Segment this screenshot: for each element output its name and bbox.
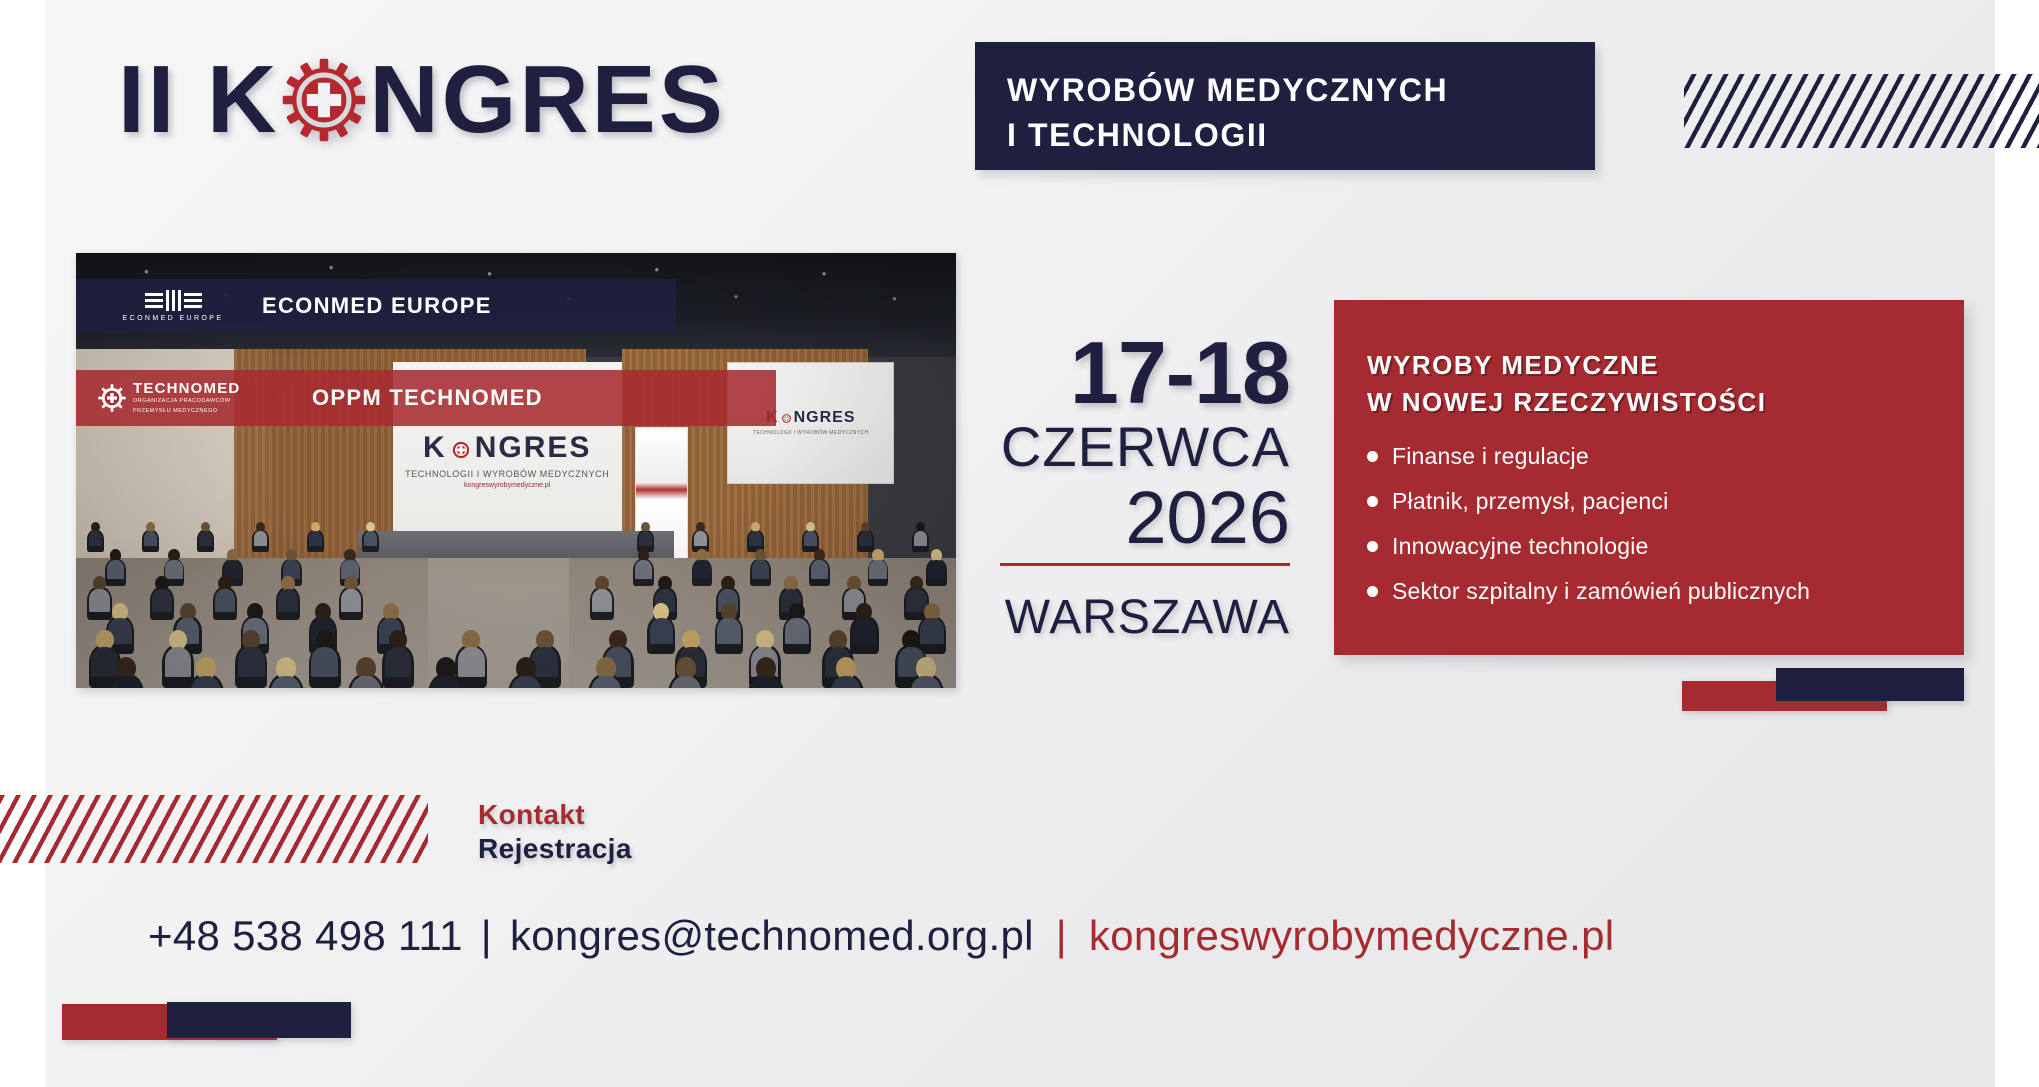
topic-item: Sektor szpitalny i zamówień publicznych xyxy=(1367,578,1964,605)
bullet-icon xyxy=(1367,496,1378,507)
logo-suffix: NGRES xyxy=(369,52,725,148)
contact-details: +48 538 498 111 | kongres@technomed.org.… xyxy=(148,912,1614,960)
diagonal-stripes-red xyxy=(0,795,428,863)
topic-item: Innowacyjne technologie xyxy=(1367,533,1964,560)
topic-label: Sektor szpitalny i zamówień publicznych xyxy=(1392,578,1810,605)
bullet-icon xyxy=(1367,586,1378,597)
contact-separator-1: | xyxy=(481,912,492,959)
topics-title-line-1: WYROBY MEDYCZNE xyxy=(1367,347,1964,384)
event-city: WARSZAWA xyxy=(1000,590,1290,645)
technomed-logo-sub1: ORGANIZACJA PRACODAWCÓW xyxy=(133,398,240,406)
decorative-bar-navy-right xyxy=(1776,668,1964,701)
logo-prefix: II K xyxy=(118,52,279,148)
technomed-logo: TECHNOMED ORGANIZACJA PRACODAWCÓW PRZEMY… xyxy=(98,381,298,416)
overlay-econmed-europe: ECONMED EUROPE ECONMED EUROPE xyxy=(76,279,676,333)
topic-label: Płatnik, przemysł, pacjenci xyxy=(1392,488,1668,515)
topics-box: WYROBY MEDYCZNE W NOWEJ RZECZYWISTOŚCI F… xyxy=(1334,300,1964,655)
eme-mark-icon xyxy=(145,290,202,311)
contact-email[interactable]: kongres@technomed.org.pl xyxy=(510,912,1034,959)
congress-poster: II K xyxy=(0,0,2039,1087)
econmed-logo-caption: ECONMED EUROPE xyxy=(123,315,224,322)
topics-list: Finanse i regulacje Płatnik, przemysł, p… xyxy=(1367,443,1964,605)
diagonal-stripes-navy xyxy=(1684,74,2039,148)
gear-cross-icon xyxy=(281,57,367,143)
decorative-bar-navy-bottom xyxy=(167,1002,351,1038)
event-date-range: 17-18 xyxy=(1000,330,1290,416)
technomed-gear-icon xyxy=(98,384,126,412)
header-line-1: WYROBÓW MEDYCZNYCH xyxy=(1007,68,1595,113)
contact-phone[interactable]: +48 538 498 111 xyxy=(148,912,463,959)
econmed-logo: ECONMED EUROPE xyxy=(98,290,248,322)
overlay-label-econmed: ECONMED EUROPE xyxy=(262,293,492,319)
topic-item: Finanse i regulacje xyxy=(1367,443,1964,470)
topic-item: Płatnik, przemysł, pacjenci xyxy=(1367,488,1964,515)
contact-website[interactable]: kongreswyrobymedyczne.pl xyxy=(1089,912,1614,959)
topic-label: Finanse i regulacje xyxy=(1392,443,1589,470)
header-title-box: WYROBÓW MEDYCZNYCH I TECHNOLOGII xyxy=(975,42,1595,170)
bullet-icon xyxy=(1367,541,1378,552)
overlay-oppm-technomed: TECHNOMED ORGANIZACJA PRACODAWCÓW PRZEMY… xyxy=(76,370,776,426)
overlay-label-technomed: OPPM TECHNOMED xyxy=(312,385,543,411)
header-line-2: I TECHNOLOGII xyxy=(1007,113,1595,158)
contact-heading-rejestracja: Rejestracja xyxy=(478,832,632,866)
topics-title-line-2: W NOWEJ RZECZYWISTOŚCI xyxy=(1367,384,1964,421)
technomed-logo-sub2: PRZEMYSŁU MEDYCZNEGO xyxy=(133,408,240,416)
contact-heading-kontakt: Kontakt xyxy=(478,798,632,832)
event-year: 2026 xyxy=(1000,479,1290,566)
technomed-logo-name: TECHNOMED xyxy=(133,381,240,396)
congress-logo: II K xyxy=(118,48,726,152)
event-date-block: 17-18 CZERWCA 2026 WARSZAWA xyxy=(1000,330,1290,645)
contact-separator-2: | xyxy=(1056,912,1067,959)
conference-photo: K NGRES TECHNOLOGII I WYROBÓW MEDYCZNYCH… xyxy=(76,253,956,688)
topic-label: Innowacyjne technologie xyxy=(1392,533,1649,560)
bullet-icon xyxy=(1367,451,1378,462)
contact-heading: Kontakt Rejestracja xyxy=(478,798,632,866)
event-month: CZERWCA xyxy=(1000,416,1290,479)
